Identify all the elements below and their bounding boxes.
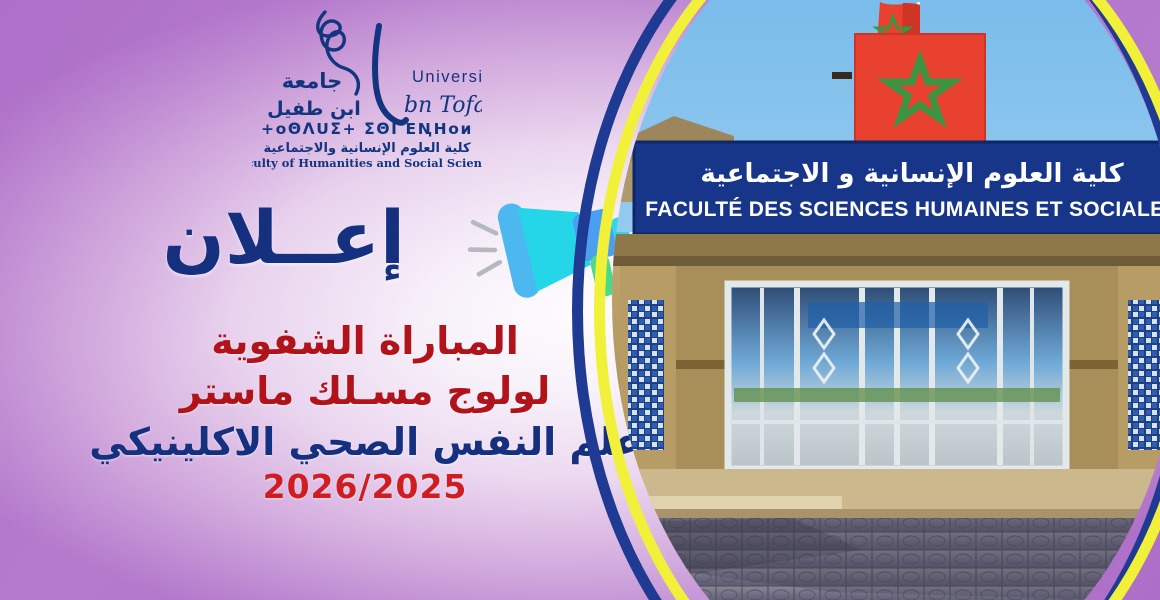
svg-text:Université: Université bbox=[412, 68, 482, 86]
svg-text:كلية العلوم الإنسانية و الاجتم: كلية العلوم الإنسانية و الاجتماعية bbox=[700, 159, 1124, 189]
svg-text:Faculty of Humanities and Soci: Faculty of Humanities and Social Science… bbox=[252, 156, 482, 170]
photo-panel: كلية العلوم الإنسانية و الاجتماعية FACUL… bbox=[690, 0, 1160, 600]
faculty-building-photo: كلية العلوم الإنسانية و الاجتماعية FACUL… bbox=[612, 0, 1160, 600]
svg-text:+oΘΛUΣ+ ΣΘI EꞐHoи: +oΘΛUΣ+ ΣΘI EꞐHoи bbox=[261, 120, 473, 138]
page-title: إعــلان bbox=[162, 196, 405, 281]
svg-text:كلية العلوم الإنسانية والاجتما: كلية العلوم الإنسانية والاجتماعية bbox=[263, 141, 470, 156]
svg-text:ابن طفيل: ابن طفيل bbox=[267, 98, 361, 120]
university-logo: جامعة Université ابن طفيل bn Tofail +oΘΛ… bbox=[252, 2, 482, 172]
svg-text:bn Tofail: bn Tofail bbox=[404, 93, 482, 118]
svg-text:FACULTÉ DES SCIENCES HUMAINES: FACULTÉ DES SCIENCES HUMAINES ET SOCIALE… bbox=[645, 198, 1160, 221]
announcement-poster: جامعة Université ابن طفيل bn Tofail +oΘΛ… bbox=[0, 0, 1160, 600]
svg-text:جامعة: جامعة bbox=[282, 69, 343, 93]
